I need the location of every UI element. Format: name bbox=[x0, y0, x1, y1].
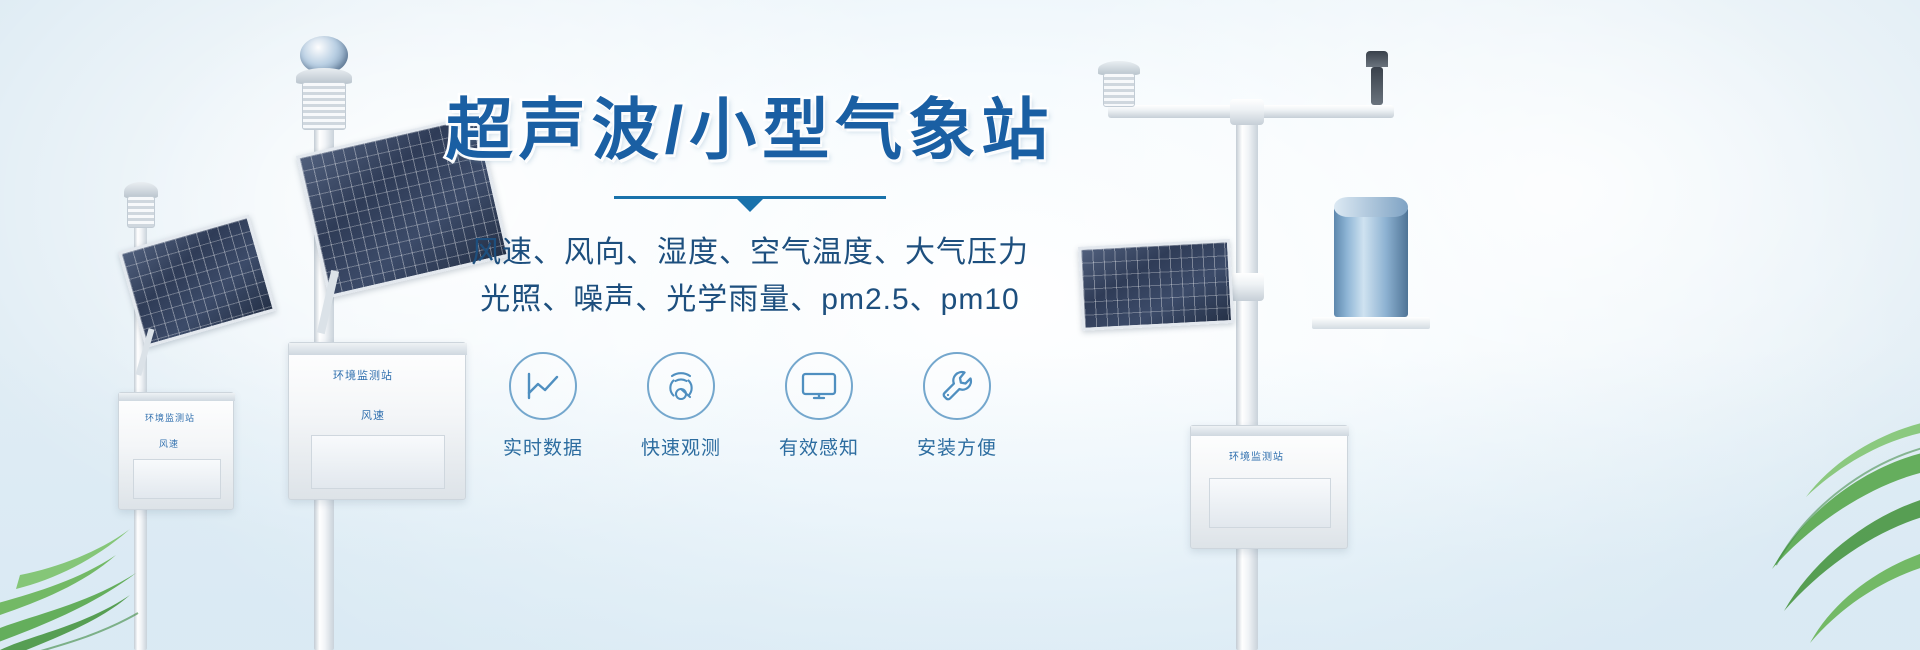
anemometer-body-right bbox=[1371, 67, 1383, 105]
feature-item-realtime-data[interactable]: 实时数据 bbox=[495, 352, 591, 460]
cabinet-door-middle bbox=[311, 435, 445, 489]
cabinet-door-right bbox=[1209, 478, 1331, 528]
page-title: 超声波/小型气象站 bbox=[430, 92, 1070, 170]
cabinet-band-right bbox=[1191, 426, 1349, 436]
product-banner: 环境监测站 风速 环境监测站 风速 bbox=[0, 0, 1920, 650]
feature-label-1: 实时数据 bbox=[495, 433, 591, 460]
anemometer-head-right bbox=[1366, 51, 1388, 67]
radiation-shield-left bbox=[127, 196, 155, 228]
feature-item-fast-observation[interactable]: 快速观测 bbox=[633, 352, 729, 460]
cabinet-band-left bbox=[119, 393, 235, 401]
line-chart-icon bbox=[525, 371, 561, 401]
cabinet-brand-middle: 风速 bbox=[361, 407, 385, 423]
banner-content: 超声波/小型气象站 风速、风向、湿度、空气温度、大气压力 光照、噪声、光学雨量、… bbox=[430, 92, 1070, 460]
feature-label-3: 有效感知 bbox=[771, 433, 867, 460]
enclosure-cabinet-right: 环境监测站 bbox=[1190, 425, 1348, 549]
feature-item-easy-installation[interactable]: 安装方便 bbox=[909, 352, 1005, 460]
cabinet-label-right: 环境监测站 bbox=[1229, 448, 1284, 463]
mast-pole-right bbox=[1236, 101, 1258, 650]
subtitle-line-2: 光照、噪声、光学雨量、pm2.5、pm10 bbox=[430, 276, 1070, 323]
radar-signal-icon bbox=[663, 369, 699, 403]
feature-label-4: 安装方便 bbox=[909, 433, 1005, 460]
pole-collar-lower bbox=[1230, 273, 1264, 301]
radiation-shield-right bbox=[1103, 73, 1135, 107]
title-divider bbox=[614, 196, 886, 210]
weather-station-right: 环境监测站 bbox=[1060, 45, 1460, 650]
tropical-leaf-right-icon bbox=[1630, 405, 1920, 650]
feature-circle-3 bbox=[785, 352, 853, 420]
cabinet-label-middle: 环境监测站 bbox=[333, 367, 393, 383]
radiation-shield-middle bbox=[302, 82, 346, 130]
cabinet-brand-left: 风速 bbox=[159, 437, 179, 450]
solar-panel-right bbox=[1078, 239, 1234, 331]
feature-circle-2 bbox=[647, 352, 715, 420]
feature-list: 实时数据 快速观测 bbox=[430, 352, 1070, 460]
feature-circle-4 bbox=[923, 352, 991, 420]
feature-item-effective-sensing[interactable]: 有效感知 bbox=[771, 352, 867, 460]
monitor-screen-icon bbox=[800, 370, 838, 402]
feature-label-2: 快速观测 bbox=[633, 433, 729, 460]
optical-rain-gauge bbox=[1334, 205, 1408, 317]
subtitle-line-1: 风速、风向、湿度、空气温度、大气压力 bbox=[430, 229, 1070, 276]
rain-gauge-rim bbox=[1334, 197, 1408, 217]
triangle-down-icon bbox=[737, 199, 763, 212]
tropical-leaf-left-icon bbox=[0, 455, 220, 650]
cabinet-label-left: 环境监测站 bbox=[145, 411, 195, 424]
wrench-icon bbox=[939, 368, 975, 404]
subtitle-block: 风速、风向、湿度、空气温度、大气压力 光照、噪声、光学雨量、pm2.5、pm10 bbox=[430, 229, 1070, 324]
pole-collar-upper bbox=[1230, 99, 1264, 125]
sensor-shelf-right bbox=[1312, 317, 1430, 329]
feature-circle-1 bbox=[509, 352, 577, 420]
